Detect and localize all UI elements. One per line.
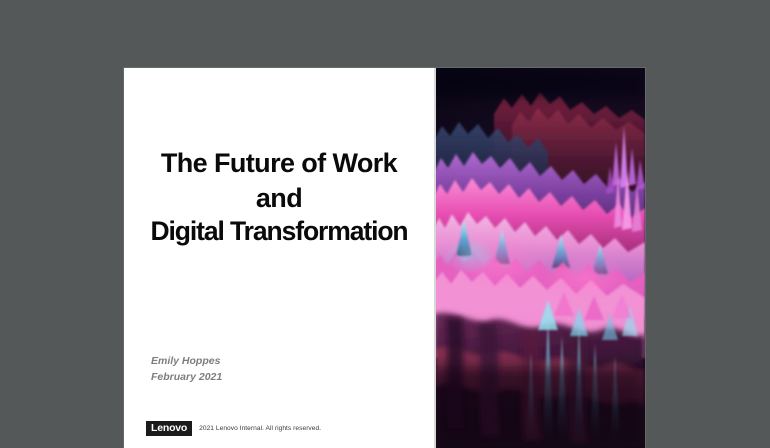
terrain-artwork-graphic: [434, 68, 645, 448]
presentation-slide: The Future of Work and Digital Transform…: [124, 68, 645, 448]
slide-byline: Emily Hoppes February 2021: [151, 353, 222, 386]
pane-divider: [434, 68, 436, 448]
slide-title: The Future of Work and Digital Transform…: [124, 146, 434, 249]
slide-content-pane: The Future of Work and Digital Transform…: [124, 68, 434, 448]
slide-viewer: The Future of Work and Digital Transform…: [0, 0, 770, 440]
copyright-notice: 2021 Lenovo Internal. All rights reserve…: [199, 425, 321, 432]
lenovo-logo: Lenovo: [146, 421, 192, 437]
slide-footer: Lenovo 2021 Lenovo Internal. All rights …: [146, 421, 321, 437]
author-name: Emily Hoppes: [151, 353, 222, 369]
title-line-3: Digital Transformation: [124, 215, 434, 249]
presentation-date: February 2021: [151, 369, 222, 385]
title-line-2: and: [124, 181, 434, 216]
slide-artwork-image: [434, 68, 645, 448]
title-line-1: The Future of Work: [124, 146, 434, 181]
